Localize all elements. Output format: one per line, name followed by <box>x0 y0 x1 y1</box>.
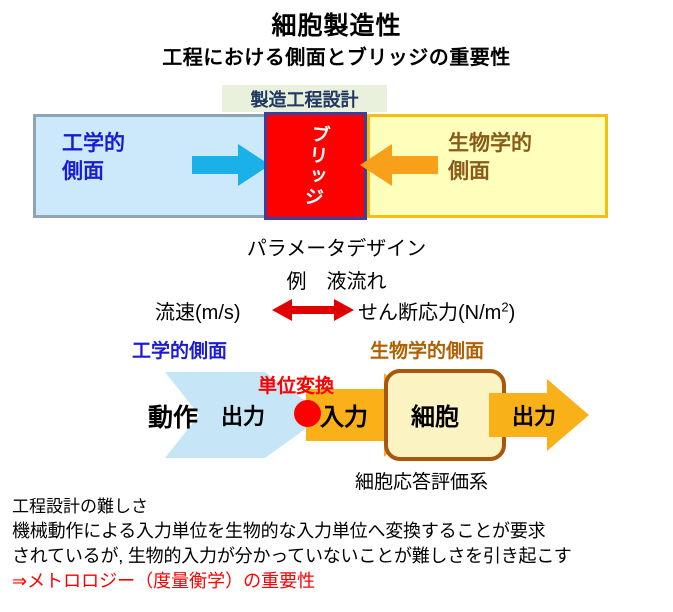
difficulty-heading: 工程設計の難しさ <box>12 492 148 517</box>
biology-aspect-line2: 側面 <box>448 158 608 186</box>
engineering-aspect-line1: 工学的 <box>62 130 212 158</box>
shear-stress-exponent: 2 <box>501 299 508 314</box>
slide-canvas: 細胞製造性 工程における側面とブリッジの重要性 製造工程設計 工学的 側面 生物… <box>0 0 673 612</box>
shear-stress-prefix: せん断応力(N/m <box>358 302 501 324</box>
bridge-label: ブリッジ <box>298 123 334 209</box>
biology-aspect-label: 生物学的 側面 <box>448 130 608 187</box>
biology-aspect-line1: 生物学的 <box>448 130 608 158</box>
flow-engineering-caption: 工学的側面 <box>132 336 227 363</box>
step-output-2-label: 出力 <box>512 399 556 431</box>
step-cell-label: 細胞 <box>411 397 459 432</box>
bridge-box: ブリッジ <box>264 112 367 220</box>
arrow-right-icon <box>192 142 270 188</box>
step-output-1-label: 出力 <box>221 399 265 431</box>
metrology-conclusion: ⇒メトロロジー（度量衡学）の重要性 <box>12 567 315 593</box>
difficulty-line-1: 機械動作による入力単位を生物的な入力単位へ変換することが要求 <box>12 517 545 543</box>
process-design-label: 製造工程設計 <box>222 85 387 112</box>
parameter-example-label: 例 液流れ <box>0 265 673 294</box>
shear-stress-label: せん断応力(N/m2) <box>358 296 515 325</box>
step-action-label: 動作 <box>148 398 198 434</box>
engineering-aspect-label: 工学的 側面 <box>62 130 212 187</box>
arrow-left-right-icon <box>272 298 354 322</box>
flow-biology-caption: 生物学的側面 <box>370 336 484 363</box>
cell-response-evaluation-caption: 細胞応答評価系 <box>355 467 488 494</box>
page-subtitle: 工程における側面とブリッジの重要性 <box>0 41 673 70</box>
flow-velocity-label: 流速(m/s) <box>155 296 241 325</box>
page-title: 細胞製造性 <box>0 6 673 42</box>
engineering-aspect-line2: 側面 <box>62 158 212 186</box>
shear-stress-suffix: ) <box>509 302 516 324</box>
arrow-left-icon <box>360 142 438 188</box>
junction-dot-icon <box>294 400 321 427</box>
difficulty-line-2: されているが, 生物的入力が分かっていないことが難しさを引き起こす <box>12 542 572 568</box>
step-input-label: 入力 <box>320 397 368 432</box>
parameter-design-title: パラメータデザイン <box>0 232 673 261</box>
unit-conversion-caption: 単位変換 <box>258 371 334 398</box>
